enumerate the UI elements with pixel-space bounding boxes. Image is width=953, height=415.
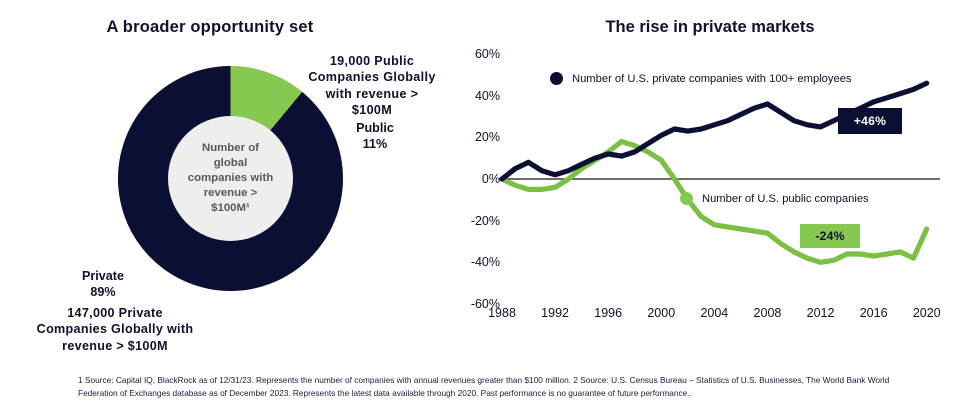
x-axis-tick: 2020 — [913, 306, 941, 320]
legend-item-private-companies: Number of U.S. private companies with 10… — [550, 72, 852, 85]
x-axis-tick: 2012 — [807, 306, 835, 320]
donut-center-label: Number of global companies with revenue … — [182, 141, 279, 216]
x-axis-tick: 1996 — [594, 306, 622, 320]
y-axis-tick: 60% — [454, 47, 500, 61]
y-axis-tick: 40% — [454, 89, 500, 103]
donut-label-public-percent: Public 11% — [320, 120, 430, 153]
line-chart-panel: The rise in private markets 60%40%20%0%-… — [440, 0, 953, 370]
x-axis-tick: 2008 — [754, 306, 782, 320]
donut-label-private-percent: Private 89% — [28, 268, 178, 301]
y-axis-tick: 20% — [454, 130, 500, 144]
donut-hole: Number of global companies with revenue … — [168, 116, 293, 241]
donut-label-public-count: 19,000 Public Companies Globally with re… — [296, 53, 448, 118]
y-axis-tick: -20% — [454, 214, 500, 228]
donut-chart-panel: A broader opportunity set Number of glob… — [0, 0, 440, 370]
footnote-sources: 1 Source: Capital IQ, BlackRock as of 12… — [78, 374, 918, 401]
y-axis-tick: 0% — [454, 172, 500, 186]
x-axis-tick: 1992 — [541, 306, 569, 320]
donut-chart-title: A broader opportunity set — [0, 18, 420, 37]
badge-private-growth: +46% — [838, 108, 902, 134]
x-axis-tick: 1988 — [488, 306, 516, 320]
donut-label-private-count: 147,000 Private Companies Globally with … — [10, 305, 220, 354]
legend-item-public-companies: Number of U.S. public companies — [680, 192, 869, 205]
x-axis-tick: 2004 — [700, 306, 728, 320]
x-axis-tick: 2016 — [860, 306, 888, 320]
legend-dot-navy-icon — [550, 72, 563, 85]
x-axis-tick: 2000 — [647, 306, 675, 320]
legend-label-private-companies: Number of U.S. private companies with 10… — [572, 73, 852, 85]
legend-dot-green-icon — [680, 192, 693, 205]
y-axis-tick: -40% — [454, 255, 500, 269]
legend-label-public-companies: Number of U.S. public companies — [702, 193, 869, 205]
x-axis: 198819921996200020042008201220162020 — [440, 306, 953, 330]
badge-public-decline: -24% — [800, 224, 860, 248]
